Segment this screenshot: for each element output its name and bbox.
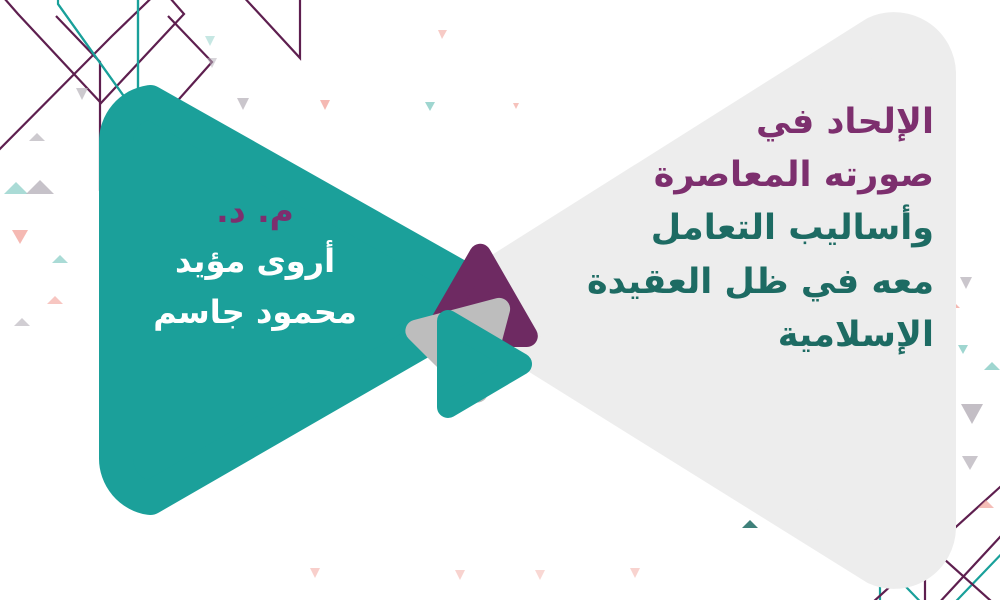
author-name-line-2: محمود جاسم <box>120 287 390 339</box>
title-line-2: صورته المعاصرة <box>544 149 934 202</box>
book-title: الإلحاد في صورته المعاصرة وأساليب التعام… <box>544 96 934 362</box>
title-line-3: وأساليب التعامل <box>544 202 934 255</box>
author-name-line-1: أروى مؤيد <box>120 236 390 288</box>
title-line-5: الإسلامية <box>544 309 934 362</box>
poster-canvas: الإلحاد في صورته المعاصرة وأساليب التعام… <box>0 0 1000 600</box>
author-degree: م. د. <box>120 186 390 236</box>
author-credit: م. د. أروى مؤيد محمود جاسم <box>120 186 390 339</box>
title-line-1: الإلحاد في <box>544 96 934 149</box>
title-line-4: معه في ظل العقيدة <box>544 256 934 309</box>
